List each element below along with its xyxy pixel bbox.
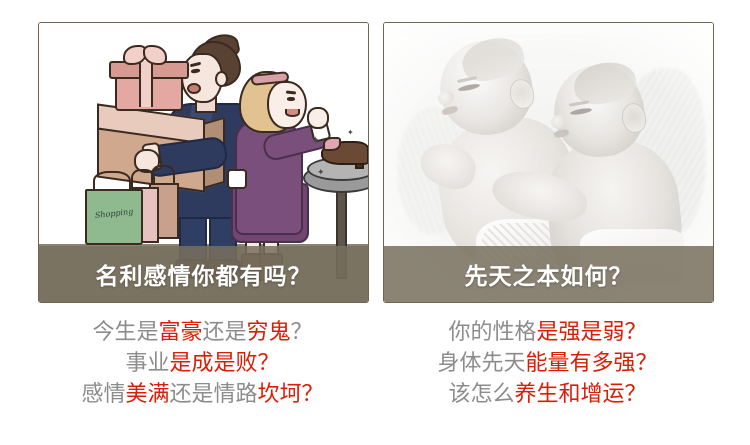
caption-text: 今生是 bbox=[92, 320, 158, 345]
caption-text: 事业 bbox=[125, 351, 169, 376]
banner-right-label: 先天之本如何？ bbox=[465, 257, 633, 291]
banner-left[interactable]: 名利感情你都有吗？ bbox=[39, 246, 368, 302]
image-card-left[interactable]: Shopping bbox=[38, 22, 369, 303]
banner-left-label: 名利感情你都有吗？ bbox=[96, 257, 312, 291]
caption-highlight: 坎坷？ bbox=[258, 382, 324, 407]
caption-highlight: 是成是败？ bbox=[170, 351, 280, 376]
woman-face bbox=[267, 81, 307, 129]
caption-highlight: 美满 bbox=[125, 382, 169, 407]
caption-highlight: 穷鬼 bbox=[247, 320, 291, 345]
caption-highlight: 能量有多强？ bbox=[526, 351, 658, 376]
caption-text: 该怎么 bbox=[448, 382, 514, 407]
high-heel-bow bbox=[323, 137, 341, 151]
sparkle-icon: ✦ bbox=[347, 129, 354, 137]
caption-left: 今生是富豪还是穷鬼？事业是成是败？感情美满还是情路坎坷？ bbox=[38, 317, 367, 410]
caption-line: 事业是成是败？ bbox=[38, 348, 367, 379]
man-ear bbox=[215, 71, 228, 87]
image-card-right[interactable]: 先天之本如何？ bbox=[383, 22, 714, 303]
woman-hand bbox=[307, 107, 329, 129]
caption-line: 感情美满还是情路坎坷？ bbox=[38, 379, 367, 410]
caption-line: 身体先天能量有多强？ bbox=[383, 348, 712, 379]
caption-line: 你的性格是强是弱？ bbox=[383, 317, 712, 348]
caption-line: 今生是富豪还是穷鬼？ bbox=[38, 317, 367, 348]
caption-text: 还是情路 bbox=[170, 382, 258, 407]
sparkle-icon: ✦ bbox=[311, 135, 320, 146]
sparkle-icon: ✦ bbox=[317, 169, 325, 178]
woman-eye bbox=[287, 97, 295, 101]
caption-highlight: 富豪 bbox=[158, 320, 202, 345]
woman-cuff-lower bbox=[227, 169, 247, 189]
man-mouth bbox=[187, 83, 201, 94]
caption-text: ？ bbox=[291, 320, 313, 345]
caption-text: 身体先天 bbox=[437, 351, 525, 376]
caption-text: 你的性格 bbox=[448, 320, 536, 345]
promo-page: Shopping bbox=[0, 0, 750, 445]
caption-text: 感情 bbox=[81, 382, 125, 407]
panel-left[interactable]: Shopping bbox=[38, 0, 373, 445]
banner-right[interactable]: 先天之本如何？ bbox=[384, 246, 713, 302]
caption-highlight: 养生和增运？ bbox=[515, 382, 647, 407]
caption-text: 还是 bbox=[202, 320, 246, 345]
gift-ribbon bbox=[139, 61, 153, 107]
woman-mouth bbox=[285, 109, 300, 117]
caption-line: 该怎么养生和增运？ bbox=[383, 379, 712, 410]
caption-highlight: 是强是弱？ bbox=[537, 320, 647, 345]
caption-right: 你的性格是强是弱？身体先天能量有多强？该怎么养生和增运？ bbox=[383, 317, 712, 410]
panel-right[interactable]: 先天之本如何？ 你的性格是强是弱？身体先天能量有多强？该怎么养生和增运？ bbox=[383, 0, 718, 445]
